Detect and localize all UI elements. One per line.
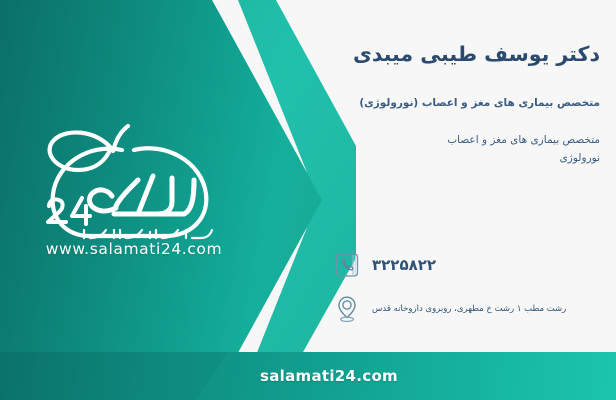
logo-website-url: www.salamati24.com	[16, 240, 252, 258]
business-card: www.salamati24.com دکتر یوسف طیبی میبدی …	[0, 0, 616, 400]
phone-row[interactable]: ۳۲۲۵۸۲۲	[332, 250, 604, 280]
doctor-specialty-secondary: متخصص بیماری های مغز و اعصاب نورولوژی	[332, 132, 600, 168]
specialty-line-1: متخصص بیماری های مغز و اعصاب	[332, 132, 600, 150]
specialty-line-2: نورولوژی	[332, 150, 600, 168]
phone-icon	[332, 250, 362, 280]
doctor-name: دکتر یوسف طیبی میبدی	[332, 42, 600, 68]
card-content: دکتر یوسف طیبی میبدی متخصص بیماری های مغ…	[330, 0, 616, 342]
footer-website: salamati24.com	[0, 352, 616, 400]
phone-number: ۳۲۲۵۸۲۲	[372, 256, 436, 274]
map-pin-icon	[332, 294, 362, 324]
address-text: رشت مطب ۱ رشت خ مطهری، روبروی داروخانه ق…	[372, 303, 566, 315]
salamati24-logo: www.salamati24.com	[16, 118, 252, 270]
apple-outline-logo	[16, 118, 252, 242]
footer-bar: salamati24.com	[0, 352, 616, 400]
doctor-specialty-primary: متخصص بیماری های مغز و اعصاب (نورولوژی)	[332, 96, 600, 112]
logo-wordmark-strokes	[90, 176, 195, 214]
address-row[interactable]: رشت مطب ۱ رشت خ مطهری، روبروی داروخانه ق…	[332, 294, 604, 324]
